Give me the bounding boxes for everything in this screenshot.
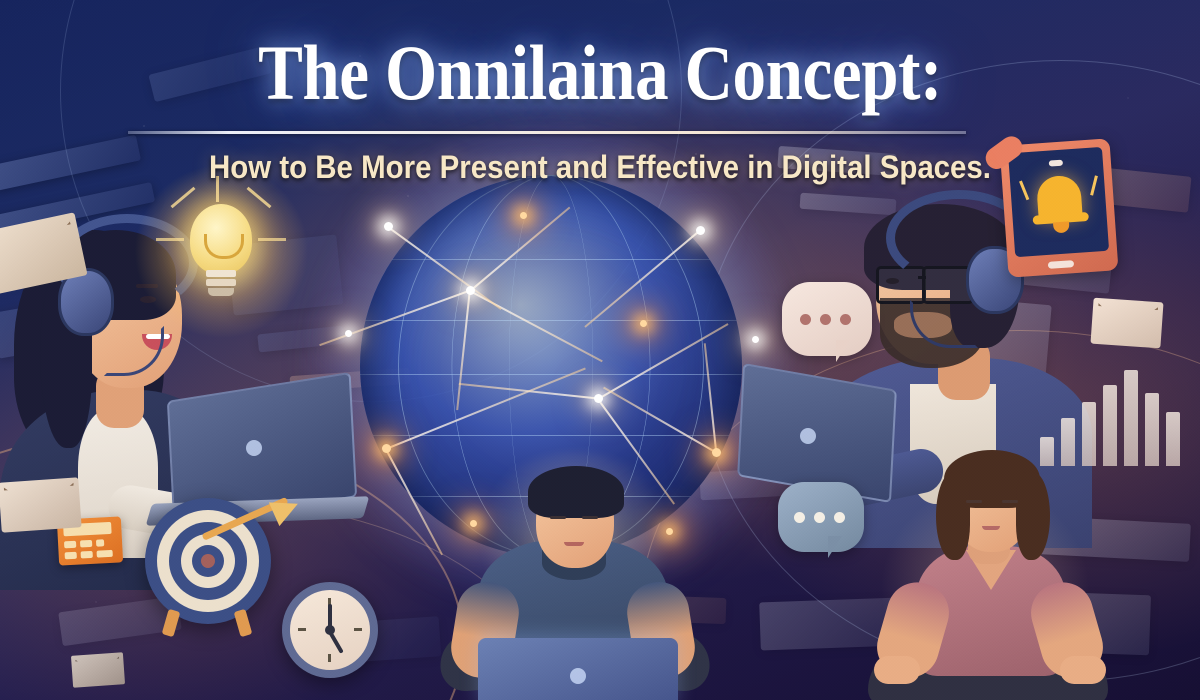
eyeglasses-icon: [876, 266, 926, 304]
calculator-icon: [57, 516, 123, 565]
bar-chart-bar: [1103, 385, 1117, 466]
clock-icon: [282, 582, 378, 678]
lightbulb-icon: [160, 190, 280, 330]
bar-chart-bar: [1040, 437, 1054, 466]
headset-icon: [886, 190, 1032, 286]
figure-woman-meditating: [860, 450, 1120, 700]
arrow-icon: [202, 497, 289, 541]
headphones-icon: [56, 214, 198, 312]
bar-chart-bar: [1166, 412, 1180, 466]
bar-chart-bar: [1082, 402, 1096, 466]
bar-chart-bar: [1124, 370, 1138, 466]
envelope-icon-right: [1090, 298, 1163, 349]
bar-chart-icon: [1040, 358, 1180, 466]
envelope-icon-bottom-left-small: [71, 652, 125, 688]
banner-illustration: The Onnilaina Concept: How to Be More Pr…: [0, 0, 1200, 700]
envelope-icon: [0, 212, 88, 295]
envelope-icon-bottom-left: [0, 477, 82, 532]
figure-man-headset-right: [790, 188, 1150, 498]
globe-network-icon: [360, 175, 742, 557]
figure-woman-headset-left: [0, 200, 340, 500]
laptop-icon-center: [478, 638, 678, 700]
chat-bubble-icon: [782, 282, 872, 356]
title-divider: [128, 131, 966, 134]
chat-bubble-icon-secondary: [778, 482, 864, 552]
bar-chart-bar: [1145, 393, 1159, 466]
page-subtitle: How to Be More Present and Effective in …: [48, 149, 1152, 186]
target-icon: [145, 498, 275, 638]
bar-chart-bar: [1061, 418, 1075, 466]
page-title: The Onnilaina Concept:: [84, 28, 1116, 118]
laptop-icon: [167, 372, 357, 526]
